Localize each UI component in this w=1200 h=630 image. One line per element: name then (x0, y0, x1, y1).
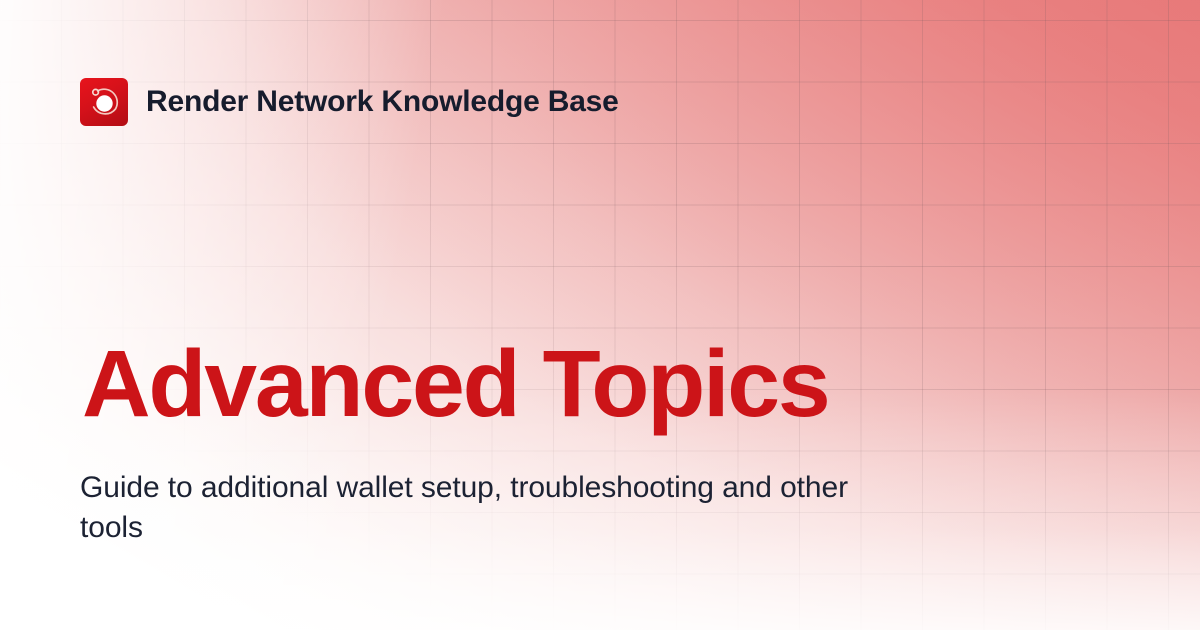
render-network-orbit-logo-icon (80, 78, 128, 126)
open-graph-card: Render Network Knowledge Base Advanced T… (0, 0, 1200, 630)
page-subtitle: Guide to additional wallet setup, troubl… (80, 468, 880, 547)
brand-title: Render Network Knowledge Base (146, 87, 619, 117)
page-title: Advanced Topics (82, 337, 829, 432)
brand-header: Render Network Knowledge Base (80, 78, 619, 126)
